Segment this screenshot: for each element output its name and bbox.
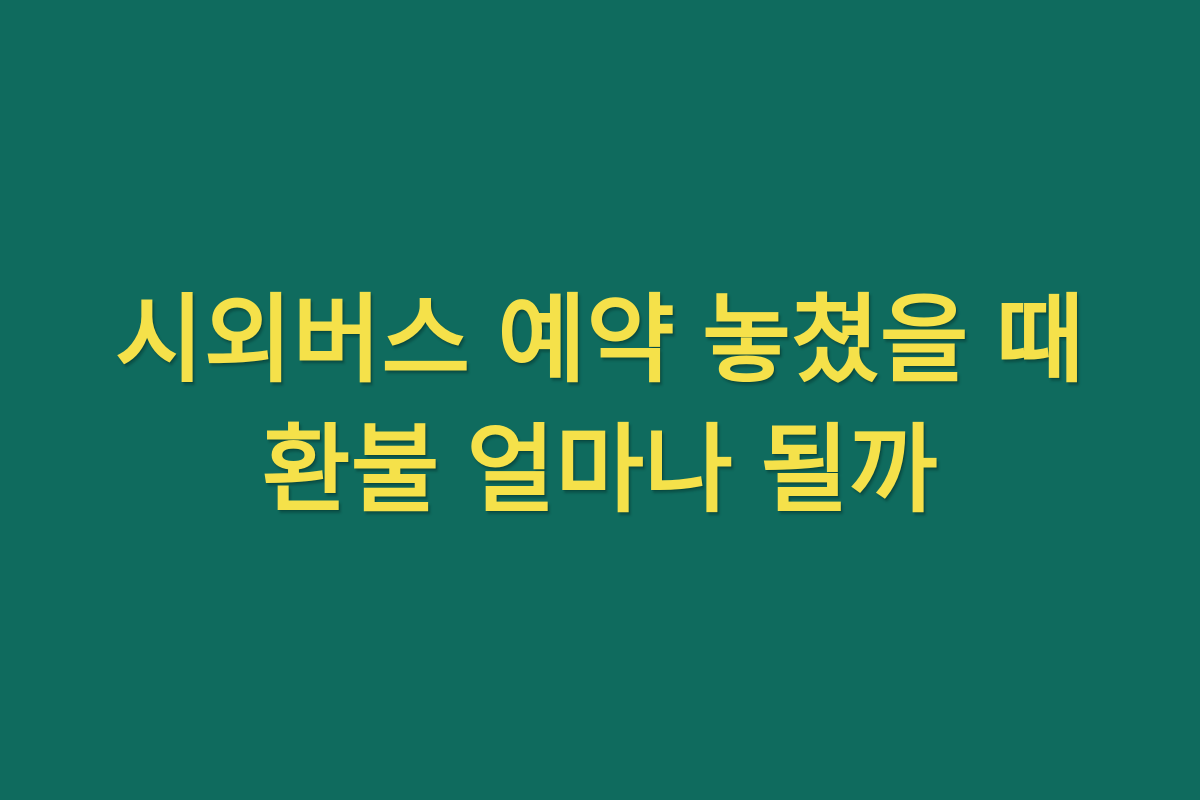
thumbnail-canvas: 시외버스 예약 놓쳤을 때 환불 얼마나 될까 — [0, 0, 1200, 800]
headline-block: 시외버스 예약 놓쳤을 때 환불 얼마나 될까 — [0, 276, 1200, 536]
headline-line-1: 시외버스 예약 놓쳤을 때 — [115, 276, 1084, 406]
headline-line-2: 환불 얼마나 될까 — [262, 406, 938, 536]
